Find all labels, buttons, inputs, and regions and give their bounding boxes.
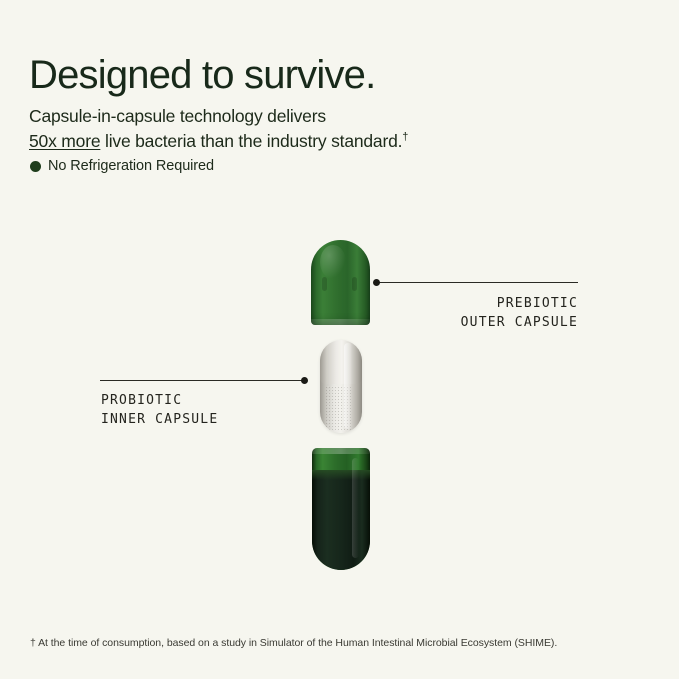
- callout-line-prebiotic: [379, 282, 578, 283]
- capsule-fill-contents: [312, 470, 370, 570]
- page-title: Designed to survive.: [29, 51, 375, 99]
- capsule-notch-left-icon: [322, 277, 327, 291]
- footnote-text: † At the time of consumption, based on a…: [30, 636, 557, 650]
- benefit-label: No Refrigeration Required: [48, 157, 214, 175]
- capsule-body-highlight: [352, 458, 359, 558]
- callout-dot-probiotic: [301, 377, 308, 384]
- subheading-line-2: live bacteria than the industry standard…: [100, 131, 402, 151]
- probiotic-inner-capsule-graphic: [320, 340, 362, 433]
- subheading: Capsule-in-capsule technology delivers 5…: [29, 104, 408, 154]
- callout-label-prebiotic: PREBIOTIC OUTER CAPSULE: [378, 294, 578, 332]
- callout-line-probiotic: [100, 380, 303, 381]
- inner-capsule-powder-texture: [325, 386, 351, 431]
- capsule-notch-right-icon: [352, 277, 357, 291]
- bullet-dot-icon: [30, 161, 41, 172]
- benefit-item-no-refrigeration: No Refrigeration Required: [30, 157, 214, 175]
- capsule-rim-highlight: [312, 448, 370, 454]
- callout-label-probiotic: PROBIOTIC INNER CAPSULE: [101, 391, 321, 429]
- capsule-diagram: PREBIOTIC OUTER CAPSULE PROBIOTIC INNER …: [0, 0, 679, 679]
- filled-capsule-body-graphic: [312, 448, 370, 570]
- inner-capsule-cap: [320, 340, 362, 384]
- subheading-emphasis: 50x more: [29, 131, 100, 151]
- product-feature-panel: Designed to survive. Capsule-in-capsule …: [0, 0, 679, 679]
- callout-dot-prebiotic: [373, 279, 380, 286]
- inner-capsule-highlight: [344, 343, 352, 429]
- subheading-line-1: Capsule-in-capsule technology delivers: [29, 106, 326, 126]
- prebiotic-outer-capsule-graphic: [311, 240, 370, 325]
- footnote-marker: †: [402, 131, 408, 143]
